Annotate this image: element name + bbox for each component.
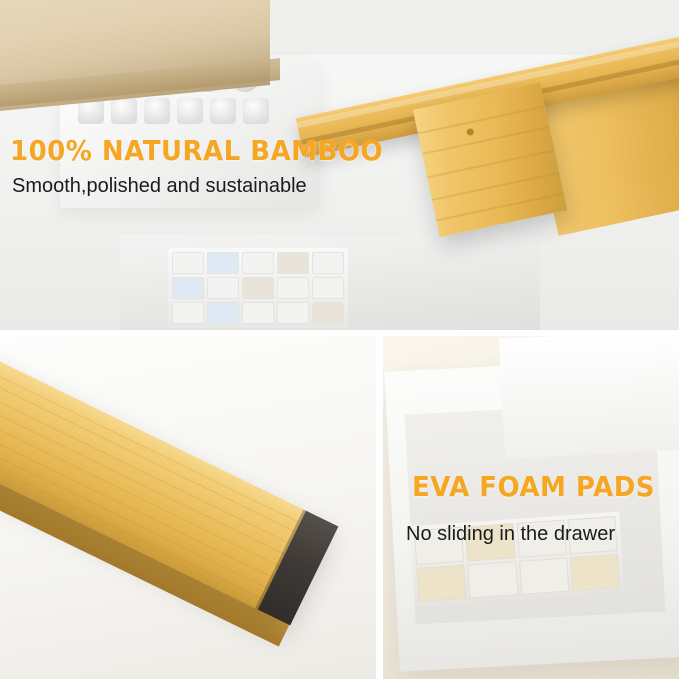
tray-cell bbox=[172, 277, 204, 299]
tray-cell bbox=[207, 252, 239, 274]
tray-cell bbox=[172, 302, 204, 324]
bottle-cap bbox=[177, 98, 203, 124]
bottle-cap bbox=[210, 98, 236, 124]
tray-cell bbox=[242, 302, 274, 324]
tray-cell bbox=[519, 557, 570, 595]
tray-cell bbox=[312, 302, 344, 324]
organizer-tray-grid bbox=[168, 248, 348, 328]
tray-cell bbox=[207, 277, 239, 299]
tray-cell bbox=[172, 252, 204, 274]
product-feature-collage: 100% NATURAL BAMBOO Smooth,polished and … bbox=[0, 0, 679, 679]
tray-cell bbox=[242, 277, 274, 299]
tray-cell bbox=[570, 553, 621, 591]
bottle-cap bbox=[144, 98, 170, 124]
subheadline-foam: No sliding in the drawer bbox=[406, 523, 615, 546]
cup-row-second bbox=[78, 98, 269, 124]
tray-cell bbox=[416, 564, 467, 602]
tray-cell bbox=[312, 277, 344, 299]
panel-foam-pad-closeup bbox=[0, 334, 378, 679]
bamboo-grain bbox=[422, 126, 550, 155]
bottle-cap bbox=[243, 98, 269, 124]
tray-cell bbox=[277, 302, 309, 324]
bottle-cap bbox=[111, 98, 137, 124]
panel-divider-vertical bbox=[376, 334, 383, 679]
tray-cell bbox=[207, 302, 239, 324]
tray-cell bbox=[277, 277, 309, 299]
tray-cell bbox=[242, 252, 274, 274]
panel-drawer-interior bbox=[382, 334, 679, 679]
drawer-front-panel bbox=[499, 334, 679, 459]
headline-bamboo: 100% NATURAL BAMBOO bbox=[10, 134, 383, 167]
tray-cell bbox=[467, 561, 518, 599]
tray-cell bbox=[277, 252, 309, 274]
tray-cell bbox=[312, 252, 344, 274]
bamboo-divider-block bbox=[413, 83, 567, 237]
bamboo-grain bbox=[427, 149, 555, 178]
panel-bamboo-divider: 100% NATURAL BAMBOO Smooth,polished and … bbox=[0, 0, 679, 330]
panel-divider-horizontal bbox=[0, 330, 679, 336]
subheadline-bamboo: Smooth,polished and sustainable bbox=[12, 175, 307, 198]
headline-foam: EVA FOAM PADS bbox=[412, 470, 655, 503]
